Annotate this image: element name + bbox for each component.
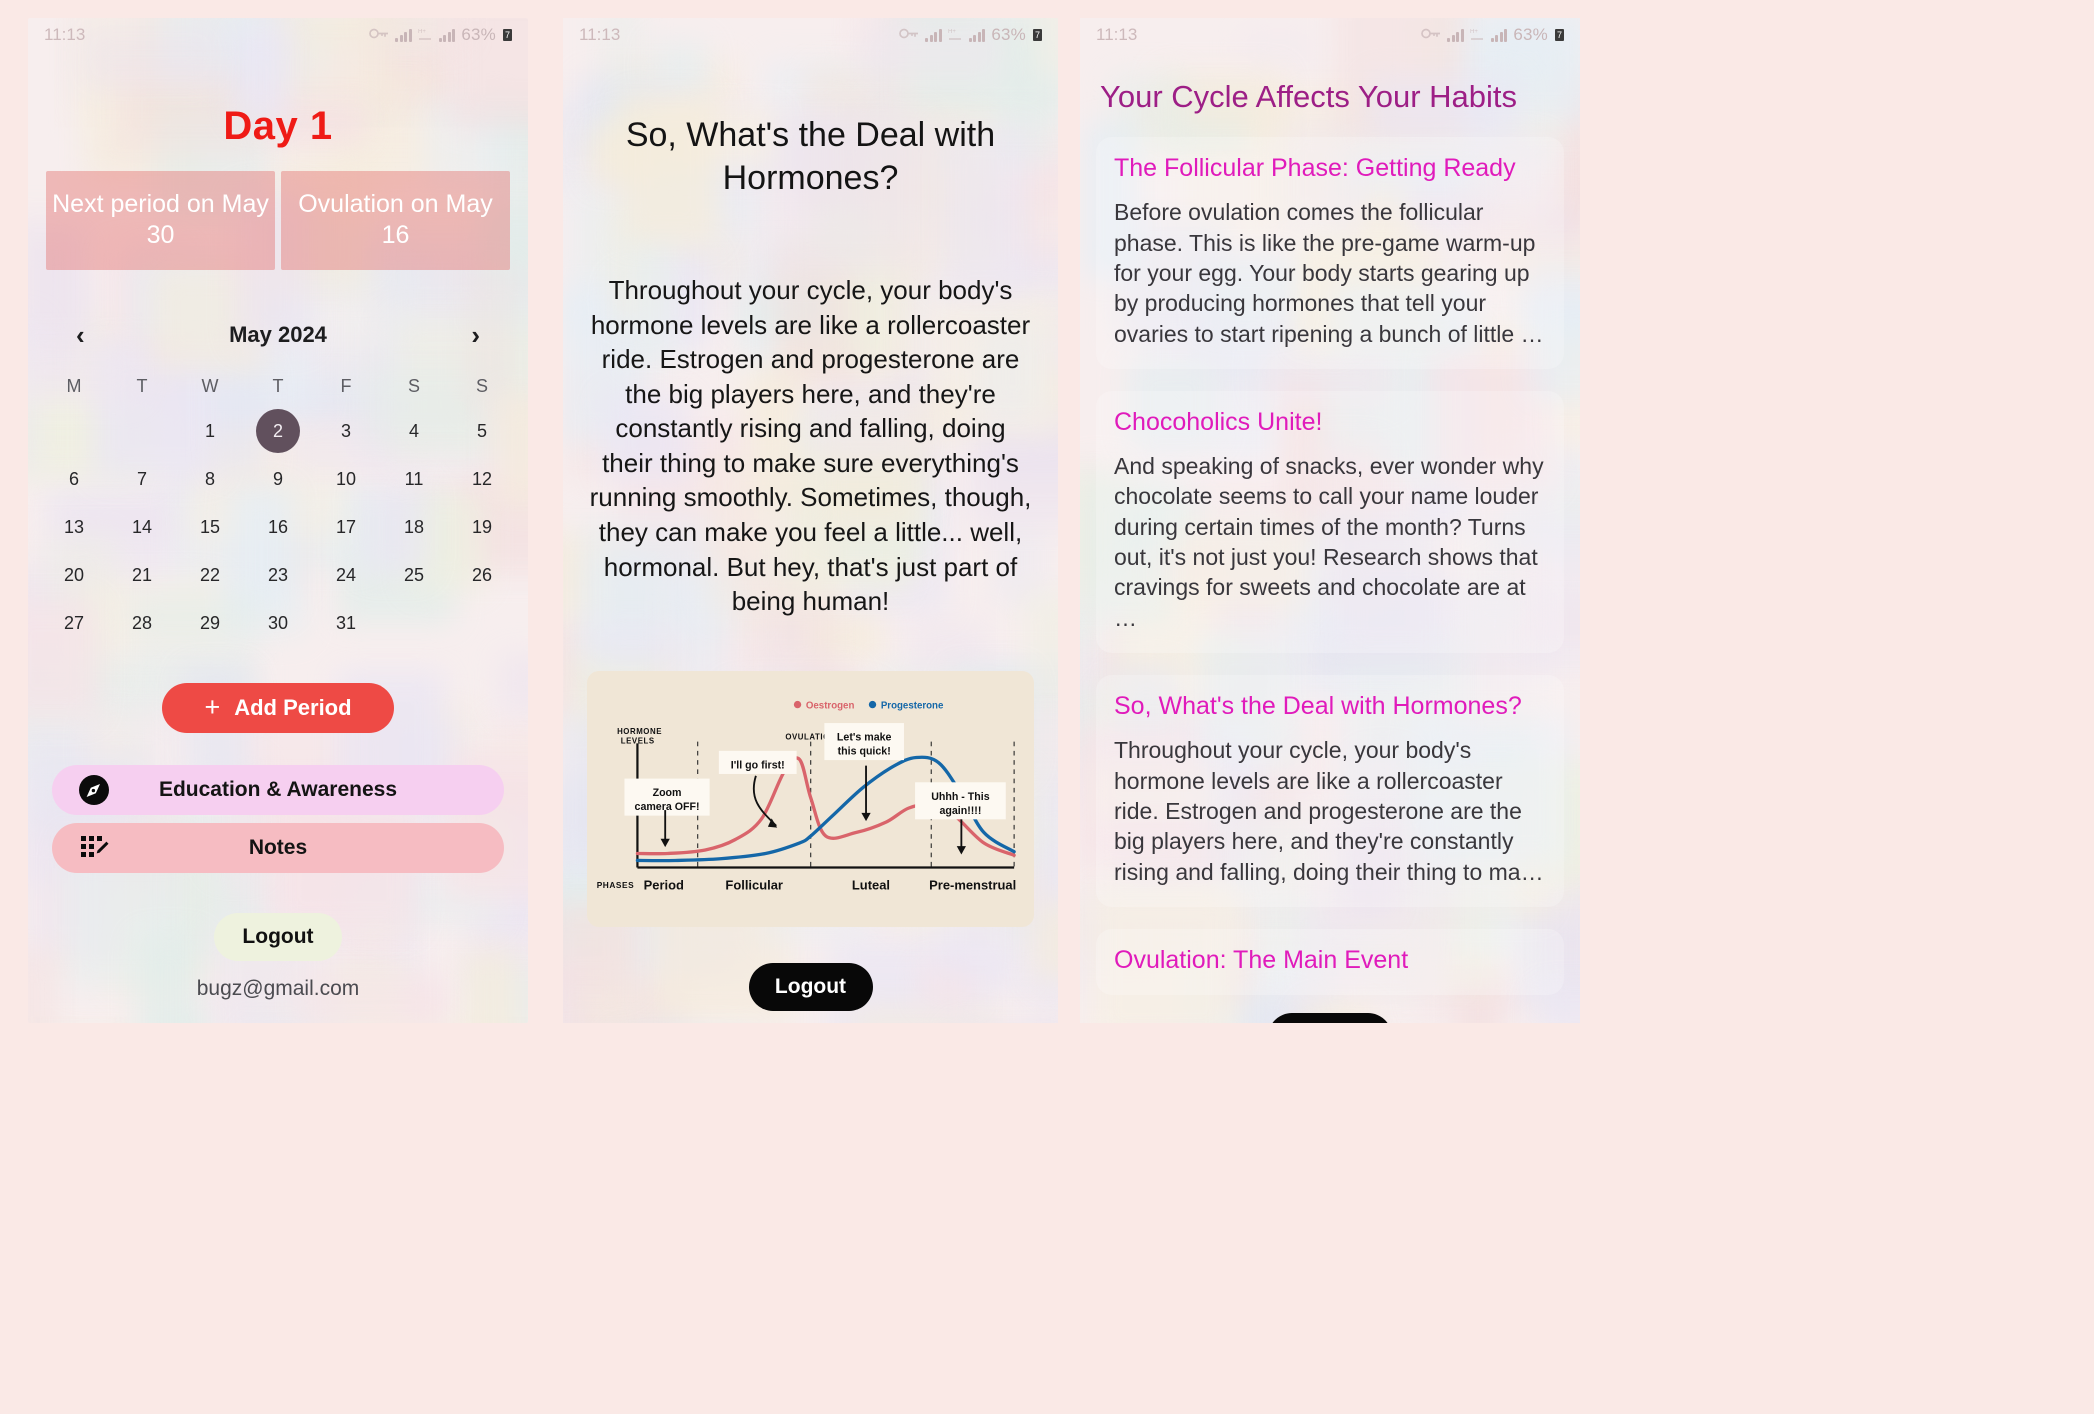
calendar-dow-4: F bbox=[312, 370, 380, 407]
status-bar: 11:13 H+ 63% 7 bbox=[563, 18, 1058, 52]
sidebar-item-education-awareness[interactable]: Education & Awareness bbox=[52, 765, 504, 815]
article-card[interactable]: Chocoholics Unite! And speaking of snack… bbox=[1096, 391, 1564, 653]
svg-text:Pre-menstrual: Pre-menstrual bbox=[929, 877, 1016, 892]
calendar-day-13[interactable]: 13 bbox=[40, 503, 108, 551]
calendar-day-7[interactable]: 7 bbox=[108, 455, 176, 503]
article-card[interactable]: The Follicular Phase: Getting Ready Befo… bbox=[1096, 137, 1564, 369]
sidebar-item-label: Notes bbox=[52, 836, 504, 860]
key-icon bbox=[899, 25, 919, 45]
svg-text:H+: H+ bbox=[1470, 29, 1478, 35]
ovulation-card[interactable]: Ovulation on May 16 bbox=[281, 171, 510, 270]
hplus-data-icon: H+ bbox=[1470, 25, 1485, 45]
status-time: 11:13 bbox=[579, 25, 620, 45]
signal-bars-icon bbox=[395, 29, 412, 42]
calendar-header: ‹ May 2024 › bbox=[28, 318, 528, 352]
calendar-day-23[interactable]: 23 bbox=[244, 551, 312, 599]
calendar-blank bbox=[108, 407, 176, 455]
calendar-dow-2: W bbox=[176, 370, 244, 407]
calendar-day-5[interactable]: 5 bbox=[448, 407, 516, 455]
status-bar: 11:13 H+ 63% 7 bbox=[1080, 18, 1580, 52]
status-time: 11:13 bbox=[44, 25, 85, 45]
signal-bars-icon-2 bbox=[439, 29, 456, 42]
svg-text:LEVELS: LEVELS bbox=[621, 736, 655, 745]
article-excerpt: Throughout your cycle, your body's hormo… bbox=[1114, 735, 1546, 887]
calendar-day-14[interactable]: 14 bbox=[108, 503, 176, 551]
status-bar: 11:13 H+ 63% 7 bbox=[28, 18, 528, 52]
svg-text:again!!!!: again!!!! bbox=[939, 805, 981, 817]
svg-text:Progesterone: Progesterone bbox=[881, 700, 944, 711]
battery-percent: 63% bbox=[461, 25, 496, 45]
battery-percent: 63% bbox=[991, 25, 1026, 45]
calendar-day-1[interactable]: 1 bbox=[176, 407, 244, 455]
three-panel-screenshot: 11:13 H+ 63% 7 Day 1 Next period on May … bbox=[0, 0, 2094, 1414]
hplus-data-icon: H+ bbox=[948, 25, 963, 45]
svg-text:Let's make: Let's make bbox=[837, 731, 892, 743]
calendar-day-17[interactable]: 17 bbox=[312, 503, 380, 551]
signal-bars-icon bbox=[1447, 29, 1464, 42]
battery-cap-icon: 7 bbox=[1555, 29, 1564, 41]
prediction-row: Next period on May 30 Ovulation on May 1… bbox=[28, 171, 528, 270]
svg-text:H+: H+ bbox=[418, 29, 426, 35]
calendar-day-16[interactable]: 16 bbox=[244, 503, 312, 551]
svg-text:HORMONE: HORMONE bbox=[617, 727, 662, 736]
plus-icon: + bbox=[204, 694, 220, 721]
logout-button[interactable]: Logout bbox=[1268, 1013, 1392, 1023]
panel-article-list: 11:13 H+ 63% 7 Your Cycle Affects Your H… bbox=[1080, 18, 1580, 1023]
calendar-day-26[interactable]: 26 bbox=[448, 551, 516, 599]
signal-bars-icon-2 bbox=[1491, 29, 1508, 42]
svg-text:Oestrogen: Oestrogen bbox=[806, 700, 855, 711]
page-title: Your Cycle Affects Your Habits bbox=[1080, 52, 1580, 115]
article-heading: Ovulation: The Main Event bbox=[1114, 945, 1546, 975]
calendar-dow-6: S bbox=[448, 370, 516, 407]
key-icon bbox=[369, 25, 389, 45]
calendar-day-25[interactable]: 25 bbox=[380, 551, 448, 599]
calendar-day-19[interactable]: 19 bbox=[448, 503, 516, 551]
logout-button[interactable]: Logout bbox=[214, 913, 342, 961]
key-icon bbox=[1421, 25, 1441, 45]
battery-cap-icon: 7 bbox=[503, 29, 512, 41]
calendar-day-20[interactable]: 20 bbox=[40, 551, 108, 599]
calendar-dow-3: T bbox=[244, 370, 312, 407]
svg-text:Luteal: Luteal bbox=[852, 877, 890, 892]
calendar-day-28[interactable]: 28 bbox=[108, 599, 176, 647]
battery-percent: 63% bbox=[1513, 25, 1548, 45]
calendar-dow-1: T bbox=[108, 370, 176, 407]
signal-bars-icon bbox=[925, 29, 942, 42]
article-excerpt: And speaking of snacks, ever wonder why … bbox=[1114, 451, 1546, 633]
calendar-day-10[interactable]: 10 bbox=[312, 455, 380, 503]
calendar-day-8[interactable]: 8 bbox=[176, 455, 244, 503]
chevron-right-icon[interactable]: › bbox=[463, 318, 488, 352]
panel-article-detail: 11:13 H+ 63% 7 So, What's the Deal with … bbox=[563, 18, 1058, 1023]
hormone-chart-svg: OestrogenProgesteroneHORMONELEVELSOVULAT… bbox=[593, 681, 1028, 916]
panel-cycle-tracker: 11:13 H+ 63% 7 Day 1 Next period on May … bbox=[28, 18, 528, 1023]
calendar-grid[interactable]: MTWTFSS123456789101112131415161718192021… bbox=[28, 370, 528, 647]
svg-text:I'll go first!: I'll go first! bbox=[731, 759, 785, 771]
svg-text:Follicular: Follicular bbox=[725, 877, 783, 892]
article-heading: The Follicular Phase: Getting Ready bbox=[1114, 153, 1546, 183]
calendar-day-24[interactable]: 24 bbox=[312, 551, 380, 599]
calendar-day-21[interactable]: 21 bbox=[108, 551, 176, 599]
svg-text:Uhhh - This: Uhhh - This bbox=[931, 791, 990, 803]
chevron-left-icon[interactable]: ‹ bbox=[68, 318, 93, 352]
calendar-day-27[interactable]: 27 bbox=[40, 599, 108, 647]
calendar-day-30[interactable]: 30 bbox=[244, 599, 312, 647]
calendar-day-12[interactable]: 12 bbox=[448, 455, 516, 503]
article-heading: So, What's the Deal with Hormones? bbox=[1114, 691, 1546, 721]
calendar-day-9[interactable]: 9 bbox=[244, 455, 312, 503]
calendar-blank bbox=[40, 407, 108, 455]
user-email: bugz@gmail.com bbox=[28, 977, 528, 1001]
calendar-dow-5: S bbox=[380, 370, 448, 407]
hplus-data-icon: H+ bbox=[418, 25, 433, 45]
calendar-dow-0: M bbox=[40, 370, 108, 407]
calendar-day-6[interactable]: 6 bbox=[40, 455, 108, 503]
calendar-day-11[interactable]: 11 bbox=[380, 455, 448, 503]
next-period-card[interactable]: Next period on May 30 bbox=[46, 171, 275, 270]
add-period-label: Add Period bbox=[234, 695, 351, 721]
calendar-day-2[interactable]: 2 bbox=[244, 407, 312, 455]
svg-text:PHASES: PHASES bbox=[597, 880, 635, 890]
logout-button[interactable]: Logout bbox=[749, 963, 873, 1011]
article-card[interactable]: So, What's the Deal with Hormones? Throu… bbox=[1096, 675, 1564, 907]
calendar-month-label: May 2024 bbox=[229, 322, 327, 348]
signal-bars-icon-2 bbox=[969, 29, 986, 42]
svg-text:this quick!: this quick! bbox=[838, 745, 891, 757]
svg-text:Period: Period bbox=[644, 877, 684, 892]
calendar-day-4[interactable]: 4 bbox=[380, 407, 448, 455]
status-time: 11:13 bbox=[1096, 25, 1137, 45]
sidebar-item-label: Education & Awareness bbox=[52, 778, 504, 802]
hormone-cycle-chart: OestrogenProgesteroneHORMONELEVELSOVULAT… bbox=[587, 671, 1034, 927]
compass-icon bbox=[78, 774, 110, 806]
sidebar-item-notes[interactable]: Notes bbox=[52, 823, 504, 873]
svg-text:Zoom: Zoom bbox=[653, 787, 682, 799]
svg-text:camera OFF!: camera OFF! bbox=[635, 801, 700, 813]
calendar-day-18[interactable]: 18 bbox=[380, 503, 448, 551]
article-title: So, What's the Deal with Hormones? bbox=[563, 114, 1058, 199]
add-period-button[interactable]: + Add Period bbox=[162, 683, 394, 733]
article-heading: Chocoholics Unite! bbox=[1114, 407, 1546, 437]
calendar-day-15[interactable]: 15 bbox=[176, 503, 244, 551]
calendar-day-3[interactable]: 3 bbox=[312, 407, 380, 455]
svg-text:H+: H+ bbox=[948, 29, 956, 35]
note-edit-icon bbox=[78, 832, 110, 864]
battery-cap-icon: 7 bbox=[1033, 29, 1042, 41]
article-card[interactable]: Ovulation: The Main Event bbox=[1096, 929, 1564, 995]
calendar-day-29[interactable]: 29 bbox=[176, 599, 244, 647]
cycle-day-title: Day 1 bbox=[28, 104, 528, 149]
article-body: Throughout your cycle, your body's hormo… bbox=[563, 273, 1058, 619]
article-excerpt: Before ovulation comes the follicular ph… bbox=[1114, 197, 1546, 349]
calendar-day-31[interactable]: 31 bbox=[312, 599, 380, 647]
calendar-day-22[interactable]: 22 bbox=[176, 551, 244, 599]
